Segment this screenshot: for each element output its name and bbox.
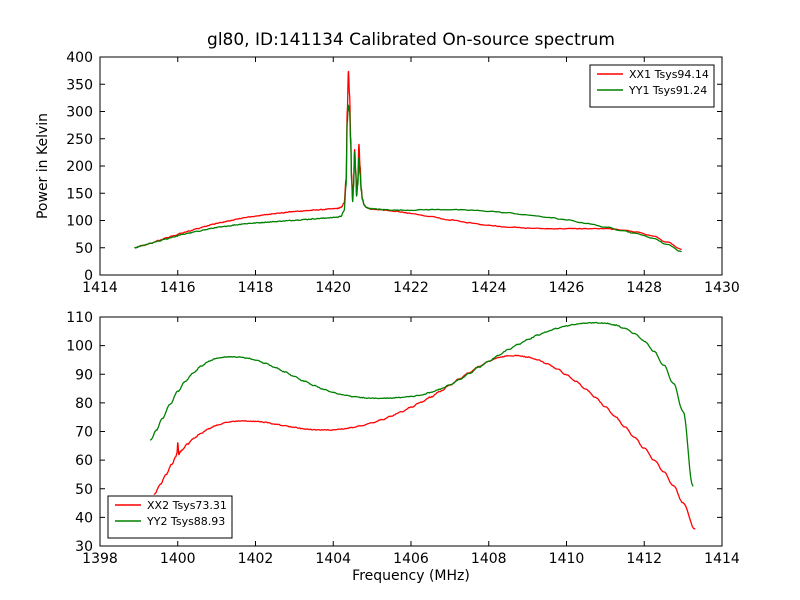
y-tick-label: 50 <box>75 482 93 498</box>
legend-label: XX1 Tsys94.14 <box>629 68 709 81</box>
y-tick-label: 100 <box>66 214 93 230</box>
x-tick-label: 1414 <box>704 551 740 567</box>
y-axis-title: Power in Kelvin <box>35 113 51 219</box>
x-tick-label: 1428 <box>626 280 662 296</box>
y-tick-label: 250 <box>66 132 93 148</box>
x-tick-label: 1424 <box>471 280 507 296</box>
legend-label: XX2 Tsys73.31 <box>147 499 227 512</box>
trace-yy1 <box>135 105 681 251</box>
x-tick-label: 1412 <box>626 551 662 567</box>
trace-xx2 <box>154 355 694 529</box>
y-tick-label: 60 <box>75 453 93 469</box>
y-tick-label: 150 <box>66 186 93 202</box>
x-tick-label: 1416 <box>160 280 196 296</box>
y-tick-label: 400 <box>66 50 93 66</box>
x-tick-label: 1430 <box>704 280 740 296</box>
x-tick-label: 1410 <box>549 551 585 567</box>
page-title: gl80, ID:141134 Calibrated On-source spe… <box>207 30 615 50</box>
figure-canvas: 1414141614181420142214241426142814300501… <box>0 0 800 600</box>
x-tick-label: 1426 <box>549 280 585 296</box>
x-tick-label: 1404 <box>315 551 351 567</box>
y-tick-label: 80 <box>75 396 93 412</box>
x-tick-label: 1400 <box>160 551 196 567</box>
y-tick-label: 100 <box>66 339 93 355</box>
y-tick-label: 50 <box>75 241 93 257</box>
bottom-panel-legend: XX2 Tsys73.31YY2 Tsys88.93 <box>108 496 232 538</box>
y-tick-label: 300 <box>66 105 93 121</box>
y-tick-label: 350 <box>66 77 93 93</box>
x-tick-label: 1420 <box>315 280 351 296</box>
y-tick-label: 40 <box>75 510 93 526</box>
x-axis-title: Frequency (MHz) <box>352 568 470 584</box>
y-tick-label: 200 <box>66 159 93 175</box>
x-tick-label: 1422 <box>393 280 429 296</box>
y-tick-label: 70 <box>75 425 93 441</box>
top-panel-legend: XX1 Tsys94.14YY1 Tsys91.24 <box>590 65 714 107</box>
legend-label: YY2 Tsys88.93 <box>146 515 225 528</box>
y-tick-label: 30 <box>75 539 93 555</box>
legend-label: YY1 Tsys91.24 <box>628 84 707 97</box>
x-tick-label: 1406 <box>393 551 429 567</box>
x-tick-label: 1402 <box>238 551 274 567</box>
y-tick-label: 110 <box>66 310 93 326</box>
y-tick-label: 0 <box>84 268 93 284</box>
y-tick-label: 90 <box>75 367 93 383</box>
trace-yy2 <box>151 323 693 486</box>
x-tick-label: 1418 <box>238 280 274 296</box>
spectrum-figure: 1414141614181420142214241426142814300501… <box>0 0 800 600</box>
x-tick-label: 1408 <box>471 551 507 567</box>
